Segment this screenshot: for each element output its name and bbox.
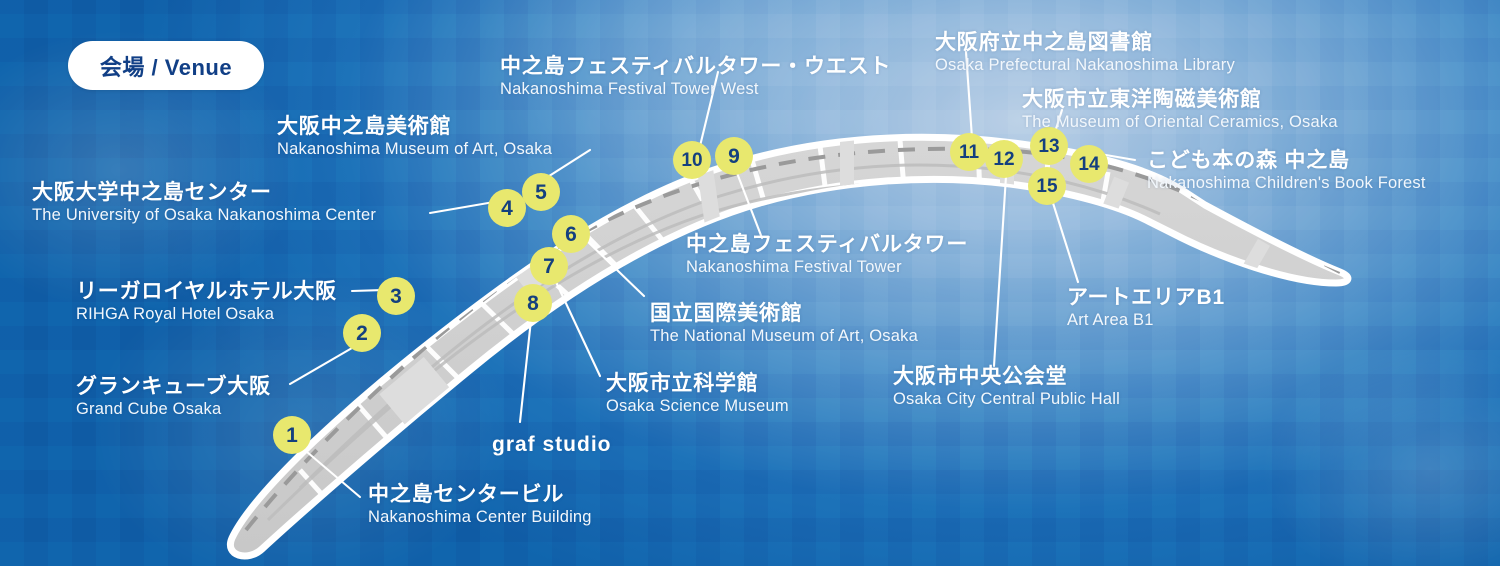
map-marker-6[interactable]: 6 — [552, 215, 590, 253]
label-title-ja: リーガロイヤルホテル大阪 — [76, 280, 337, 305]
map-label-osaka-science-museum: 大阪市立科学館Osaka Science Museum — [606, 372, 789, 416]
label-title-ja: アートエリアB1 — [1067, 286, 1225, 311]
label-title-en: Nakanoshima Children's Book Forest — [1147, 174, 1426, 193]
label-title-en: RIHGA Royal Hotel Osaka — [76, 305, 337, 324]
label-title-ja: 中之島フェスティバルタワー・ウエスト — [500, 55, 891, 80]
map-marker-label: 7 — [543, 256, 555, 277]
map-marker-label: 4 — [501, 198, 513, 219]
label-title-en: Art Area B1 — [1067, 311, 1225, 330]
label-title-en: Nakanoshima Center Building — [368, 508, 592, 527]
map-label-osaka-prefectural-nakanoshima-library: 大阪府立中之島図書館Osaka Prefectural Nakanoshima … — [935, 31, 1235, 75]
map-label-grand-cube-osaka: グランキューブ大阪Grand Cube Osaka — [76, 375, 271, 419]
label-title-ja: 中之島センタービル — [368, 483, 592, 508]
venue-badge: 会場 / Venue — [68, 41, 264, 90]
map-marker-label: 6 — [565, 224, 577, 245]
label-title-ja: graf studio — [492, 433, 612, 458]
map-label-osaka-city-central-public-hall: 大阪市中央公会堂Osaka City Central Public Hall — [893, 365, 1120, 409]
map-marker-14[interactable]: 14 — [1070, 145, 1108, 183]
map-marker-label: 12 — [993, 150, 1014, 169]
label-title-en: Nakanoshima Festival Tower West — [500, 80, 891, 99]
map-marker-label: 9 — [728, 146, 740, 167]
label-title-en: Osaka Prefectural Nakanoshima Library — [935, 56, 1235, 75]
label-title-ja: 大阪府立中之島図書館 — [935, 31, 1235, 56]
label-title-en: Osaka City Central Public Hall — [893, 390, 1120, 409]
map-marker-label: 1 — [286, 425, 298, 446]
label-title-ja: こども本の森 中之島 — [1147, 149, 1426, 174]
venue-map: 会場 / Venue 123456789101112131415 中之島フェステ… — [0, 0, 1500, 566]
map-label-university-of-osaka-nakanoshima-center: 大阪大学中之島センターThe University of Osaka Nakan… — [32, 181, 376, 225]
map-marker-label: 3 — [390, 286, 402, 307]
map-marker-5[interactable]: 5 — [522, 173, 560, 211]
map-label-art-area-b1: アートエリアB1Art Area B1 — [1067, 286, 1225, 330]
label-title-en: Nakanoshima Festival Tower — [686, 258, 968, 277]
map-label-graf-studio: graf studio — [492, 433, 612, 458]
map-marker-1[interactable]: 1 — [273, 416, 311, 454]
map-marker-label: 2 — [356, 323, 368, 344]
label-title-ja: 大阪市中央公会堂 — [893, 365, 1120, 390]
map-marker-8[interactable]: 8 — [514, 284, 552, 322]
map-marker-label: 14 — [1078, 155, 1099, 174]
map-marker-7[interactable]: 7 — [530, 247, 568, 285]
label-title-en: The Museum of Oriental Ceramics, Osaka — [1022, 113, 1338, 132]
label-title-en: Nakanoshima Museum of Art, Osaka — [277, 140, 552, 159]
map-label-nakanoshima-festival-tower: 中之島フェスティバルタワーNakanoshima Festival Tower — [686, 233, 968, 277]
map-label-nakanoshima-childrens-book-forest: こども本の森 中之島Nakanoshima Children's Book Fo… — [1147, 149, 1426, 193]
label-title-ja: 大阪中之島美術館 — [277, 115, 552, 140]
label-title-en: The University of Osaka Nakanoshima Cent… — [32, 206, 376, 225]
map-marker-label: 11 — [959, 143, 979, 162]
map-marker-12[interactable]: 12 — [985, 140, 1023, 178]
map-label-nakanoshima-center-building: 中之島センタービルNakanoshima Center Building — [368, 483, 592, 527]
label-title-ja: 大阪市立東洋陶磁美術館 — [1022, 88, 1338, 113]
map-label-national-museum-of-art-osaka: 国立国際美術館The National Museum of Art, Osaka — [650, 302, 918, 346]
map-label-nakanoshima-festival-tower-west: 中之島フェスティバルタワー・ウエストNakanoshima Festival T… — [500, 55, 891, 99]
map-marker-9[interactable]: 9 — [715, 137, 753, 175]
map-marker-label: 13 — [1038, 137, 1059, 156]
label-title-ja: 国立国際美術館 — [650, 302, 918, 327]
map-label-nakanoshima-museum-of-art-osaka: 大阪中之島美術館Nakanoshima Museum of Art, Osaka — [277, 115, 552, 159]
venue-badge-label: 会場 / Venue — [100, 50, 232, 82]
label-title-ja: 中之島フェスティバルタワー — [686, 233, 968, 258]
label-title-en: The National Museum of Art, Osaka — [650, 327, 918, 346]
label-title-ja: 大阪大学中之島センター — [32, 181, 376, 206]
map-marker-2[interactable]: 2 — [343, 314, 381, 352]
map-marker-11[interactable]: 11 — [950, 133, 988, 171]
label-title-en: Grand Cube Osaka — [76, 400, 271, 419]
label-title-ja: 大阪市立科学館 — [606, 372, 789, 397]
map-marker-label: 8 — [527, 293, 539, 314]
label-title-en: Osaka Science Museum — [606, 397, 789, 416]
label-title-ja: グランキューブ大阪 — [76, 375, 271, 400]
map-marker-10[interactable]: 10 — [673, 141, 711, 179]
map-marker-label: 10 — [681, 151, 702, 170]
map-label-rihga-royal-hotel-osaka: リーガロイヤルホテル大阪RIHGA Royal Hotel Osaka — [76, 280, 337, 324]
map-marker-label: 15 — [1036, 177, 1057, 196]
map-marker-13[interactable]: 13 — [1030, 127, 1068, 165]
map-marker-4[interactable]: 4 — [488, 189, 526, 227]
map-marker-15[interactable]: 15 — [1028, 167, 1066, 205]
map-marker-label: 5 — [535, 182, 547, 203]
map-marker-3[interactable]: 3 — [377, 277, 415, 315]
map-label-museum-of-oriental-ceramics-osaka: 大阪市立東洋陶磁美術館The Museum of Oriental Cerami… — [1022, 88, 1338, 132]
